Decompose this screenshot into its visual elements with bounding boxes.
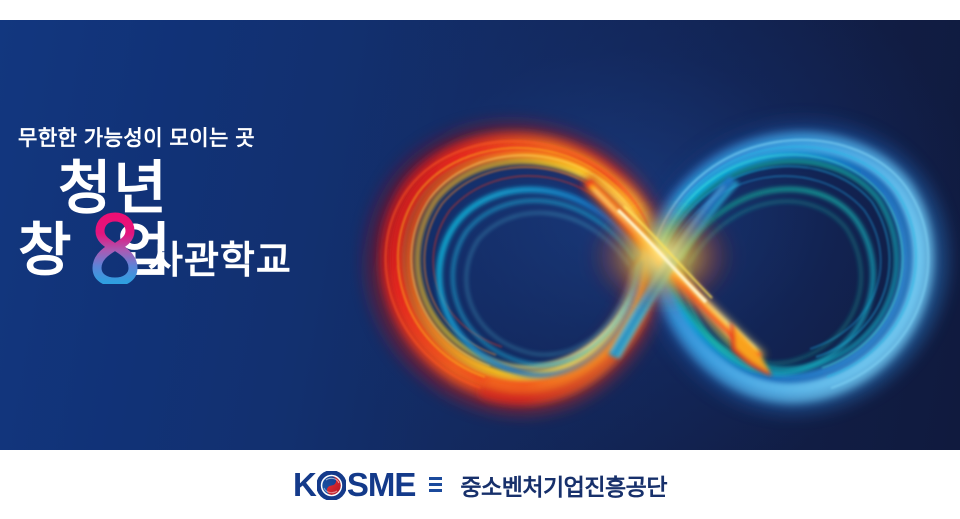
logo-divider-bars-icon [429,477,442,492]
kosme-letter-k: K [293,468,316,502]
brand-suffix-academy: 사관학교 [148,242,292,280]
brand-char-chang: 창 [18,218,73,283]
infinity-swirl-graphic [350,60,960,430]
agency-name: 중소벤처기업진흥공단 [460,468,667,502]
top-white-band [0,0,960,20]
taegeuk-icon [317,471,346,500]
kosme-logo: K [293,468,415,502]
brand-line-youth: 청년 [58,160,169,218]
infinity-eight-icon [92,212,138,284]
hero-banner: 무한한 가능성이 모이는 곳 청년 창업 사관학교 [0,20,960,450]
footer-logo-area: K [0,450,960,519]
kosme-wordmark: K [293,468,415,502]
kosme-lockup: K [293,468,667,502]
tagline: 무한한 가능성이 모이는 곳 [18,122,255,152]
brand-wordmark: 청년 창업 사관학교 [14,160,314,310]
kosme-letters-sme: SME [347,468,416,502]
